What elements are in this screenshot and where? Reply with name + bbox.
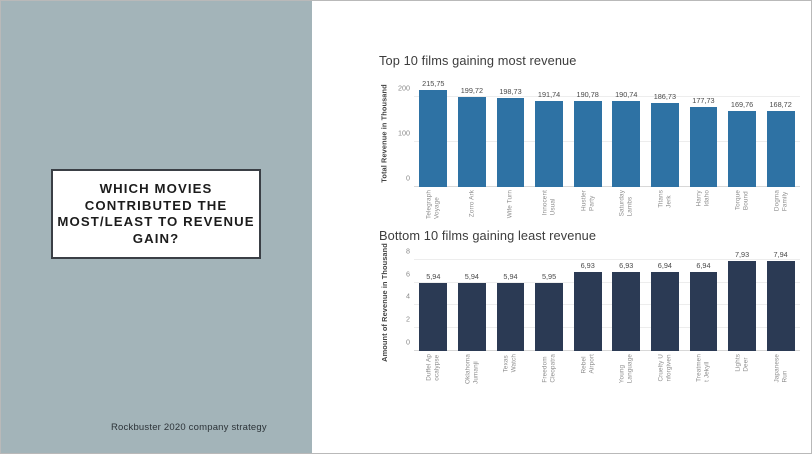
bar[interactable]: 190,78 <box>574 101 602 187</box>
top-chart-y-axis-title: Total Revenue in Thousand <box>378 79 391 187</box>
x-axis-tick-word: Harry <box>696 190 703 207</box>
x-axis-tick-label: OklahomaJumanji <box>453 351 492 403</box>
x-axis-tick-word: Hustler <box>580 190 587 211</box>
x-axis-tick-label: TorqueBound <box>723 187 762 239</box>
x-axis-tick-word: Jerk <box>665 190 672 208</box>
bar[interactable]: 168,72 <box>767 111 795 187</box>
top-bar-chart: Total Revenue in Thousand 0100200215,751… <box>380 79 800 187</box>
bar[interactable]: 5,94 <box>419 283 447 351</box>
x-axis-tick-word: Jumanji <box>472 354 479 384</box>
bottom-chart-x-axis-labels: Duffel ApocalypseOklahomaJumanjiTexasWat… <box>414 351 800 403</box>
bar-slot: 7,94 <box>761 253 800 351</box>
bar-slot: 177,73 <box>684 79 723 187</box>
bar-value-label: 7,94 <box>774 250 788 259</box>
bar[interactable]: 191,74 <box>535 101 563 187</box>
x-axis-tick-word: Cruelty U <box>657 354 664 382</box>
page-title: WHICH MOVIES CONTRIBUTED THE MOST/LEAST … <box>53 181 259 247</box>
x-axis-tick-word: Watch <box>511 354 518 372</box>
bar-slot: 198,73 <box>491 79 530 187</box>
bar-slot: 5,94 <box>491 253 530 351</box>
x-axis-tick-word: nforgiven <box>665 354 672 382</box>
x-axis-tick-word: ocalypse <box>434 354 441 381</box>
bar-slot: 5,94 <box>453 253 492 351</box>
x-axis-tick-label: Treatment Jekyll <box>684 351 723 403</box>
x-axis-tick-word: t Jekyll <box>704 354 711 382</box>
x-axis-tick-label: JapaneseRun <box>761 351 800 403</box>
bar[interactable]: 5,94 <box>458 283 486 351</box>
x-axis-tick-word: Party <box>588 190 595 211</box>
bar-value-label: 198,73 <box>499 87 521 96</box>
bar-slot: 6,94 <box>684 253 723 351</box>
bottom-bar-chart: Amount of Revenue in Thousand 024685,945… <box>380 253 800 351</box>
bar[interactable]: 177,73 <box>690 107 718 187</box>
bar-value-label: 6,93 <box>619 261 633 270</box>
slide: WHICH MOVIES CONTRIBUTED THE MOST/LEAST … <box>0 0 812 454</box>
x-axis-tick-word: Cleopatra <box>550 354 557 383</box>
bar-value-label: 6,93 <box>581 261 595 270</box>
bar[interactable]: 6,93 <box>574 272 602 351</box>
bar-value-label: 186,73 <box>654 92 676 101</box>
x-axis-tick-word: Dogma <box>773 190 780 211</box>
bar-slot: 199,72 <box>453 79 492 187</box>
bar-value-label: 5,94 <box>503 272 517 281</box>
y-axis-tick: 100 <box>398 129 410 138</box>
bar-slot: 6,93 <box>607 253 646 351</box>
x-axis-tick-word: Oklahoma <box>464 354 471 384</box>
x-axis-tick-word: Titans <box>657 190 664 208</box>
y-axis-tick: 4 <box>406 292 410 301</box>
y-axis-tick: 6 <box>406 269 410 278</box>
x-axis-tick-word: Duffel Ap <box>426 354 433 381</box>
bar[interactable]: 215,75 <box>419 90 447 187</box>
bar-value-label: 5,94 <box>426 272 440 281</box>
bar-value-label: 6,94 <box>696 261 710 270</box>
top-chart-title: Top 10 films gaining most revenue <box>379 53 577 68</box>
x-axis-tick-word: Wife Turn <box>507 190 514 218</box>
bar-slot: 168,72 <box>761 79 800 187</box>
x-axis-tick-word: Idaho <box>704 190 711 207</box>
x-axis-tick-label: HarryIdaho <box>684 187 723 239</box>
bar-series: 5,945,945,945,956,936,936,946,947,937,94 <box>414 253 800 351</box>
x-axis-tick-word: Language <box>627 354 634 383</box>
bar-value-label: 169,76 <box>731 100 753 109</box>
bar[interactable]: 6,94 <box>651 272 679 351</box>
x-axis-tick-word: Family <box>781 190 788 211</box>
x-axis-tick-label: LightsDeer <box>723 351 762 403</box>
bar-value-label: 7,93 <box>735 250 749 259</box>
x-axis-tick-label: Cruelty Unforgiven <box>646 351 685 403</box>
x-axis-tick-word: Usual <box>550 190 557 215</box>
bar-slot: 6,93 <box>568 253 607 351</box>
x-axis-tick-word: Telegraph <box>426 190 433 219</box>
top-chart-plot: 0100200215,75199,72198,73191,74190,78190… <box>414 79 800 187</box>
title-card: WHICH MOVIES CONTRIBUTED THE MOST/LEAST … <box>51 169 261 259</box>
x-axis-tick-word: Rebel <box>580 354 587 374</box>
x-axis-tick-word: Zorro Ark <box>468 190 475 217</box>
bar-value-label: 5,95 <box>542 272 556 281</box>
bar[interactable]: 5,94 <box>497 283 525 351</box>
bar-value-label: 190,78 <box>577 90 599 99</box>
bar-value-label: 215,75 <box>422 79 444 88</box>
bottom-chart-y-axis-label: Amount of Revenue in Thousand <box>380 243 389 362</box>
bar-slot: 215,75 <box>414 79 453 187</box>
x-axis-tick-label: Duffel Apocalypse <box>414 351 453 403</box>
x-axis-tick-word: Run <box>781 354 788 383</box>
x-axis-tick-word: Texas <box>503 354 510 372</box>
bar-slot: 191,74 <box>530 79 569 187</box>
bar-value-label: 190,74 <box>615 90 637 99</box>
bar-slot: 5,94 <box>414 253 453 351</box>
bar[interactable]: 7,93 <box>728 261 756 351</box>
x-axis-tick-word: Torque <box>735 190 742 210</box>
x-axis-tick-label: SaturdayLambs <box>607 187 646 239</box>
x-axis-tick-word: Bound <box>743 190 750 210</box>
content-area: Top 10 films gaining most revenue Total … <box>312 1 811 453</box>
left-panel: WHICH MOVIES CONTRIBUTED THE MOST/LEAST … <box>1 1 312 453</box>
y-axis-tick: 2 <box>406 315 410 324</box>
x-axis-tick-word: Airport <box>588 354 595 374</box>
x-axis-tick-word: Deer <box>743 354 750 372</box>
bar-slot: 169,76 <box>723 79 762 187</box>
y-axis-tick: 8 <box>406 246 410 255</box>
x-axis-tick-word: Innocent <box>542 190 549 215</box>
x-axis-tick-word: Voyage <box>434 190 441 219</box>
bar[interactable]: 198,73 <box>497 98 525 187</box>
bar-slot: 5,95 <box>530 253 569 351</box>
x-axis-tick-label: TitansJerk <box>646 187 685 239</box>
bar-value-label: 199,72 <box>461 86 483 95</box>
bar[interactable]: 6,94 <box>690 272 718 351</box>
bar-value-label: 6,94 <box>658 261 672 270</box>
x-axis-tick-label: TexasWatch <box>491 351 530 403</box>
top-chart-y-axis-label: Total Revenue in Thousand <box>380 84 389 182</box>
bar[interactable]: 186,73 <box>651 103 679 187</box>
x-axis-tick-word: Saturday <box>619 190 626 216</box>
bar-slot: 7,93 <box>723 253 762 351</box>
x-axis-tick-word: Treatmen <box>696 354 703 382</box>
bar[interactable]: 169,76 <box>728 111 756 187</box>
bottom-chart-title: Bottom 10 films gaining least revenue <box>379 228 596 243</box>
bottom-chart-plot: 024685,945,945,945,956,936,936,946,947,9… <box>414 253 800 351</box>
y-axis-tick: 0 <box>406 338 410 347</box>
bar-value-label: 168,72 <box>769 100 791 109</box>
x-axis-tick-word: Lights <box>735 354 742 372</box>
x-axis-tick-label: FreedomCleopatra <box>530 351 569 403</box>
x-axis-tick-label: RebelAirport <box>568 351 607 403</box>
bar-slot: 6,94 <box>646 253 685 351</box>
x-axis-tick-label: DogmaFamily <box>761 187 800 239</box>
bar[interactable]: 6,93 <box>612 272 640 351</box>
bottom-chart-y-axis-title: Amount of Revenue in Thousand <box>378 253 391 351</box>
bar-slot: 190,78 <box>568 79 607 187</box>
x-axis-tick-word: Freedom <box>542 354 549 383</box>
bar-slot: 190,74 <box>607 79 646 187</box>
y-axis-tick: 0 <box>406 174 410 183</box>
x-axis-tick-word: Lambs <box>627 190 634 216</box>
bar[interactable]: 199,72 <box>458 97 486 187</box>
bar-series: 215,75199,72198,73191,74190,78190,74186,… <box>414 79 800 187</box>
y-axis-tick: 200 <box>398 84 410 93</box>
bar[interactable]: 190,74 <box>612 101 640 187</box>
bar[interactable]: 5,95 <box>535 283 563 351</box>
bar-value-label: 5,94 <box>465 272 479 281</box>
footer-note: Rockbuster 2020 company strategy <box>111 422 267 433</box>
x-axis-tick-word: Japanese <box>773 354 780 383</box>
bar-value-label: 191,74 <box>538 90 560 99</box>
bar[interactable]: 7,94 <box>767 261 795 351</box>
bar-slot: 186,73 <box>646 79 685 187</box>
x-axis-tick-label: YoungLanguage <box>607 351 646 403</box>
x-axis-tick-word: Young <box>619 354 626 383</box>
bar-value-label: 177,73 <box>692 96 714 105</box>
